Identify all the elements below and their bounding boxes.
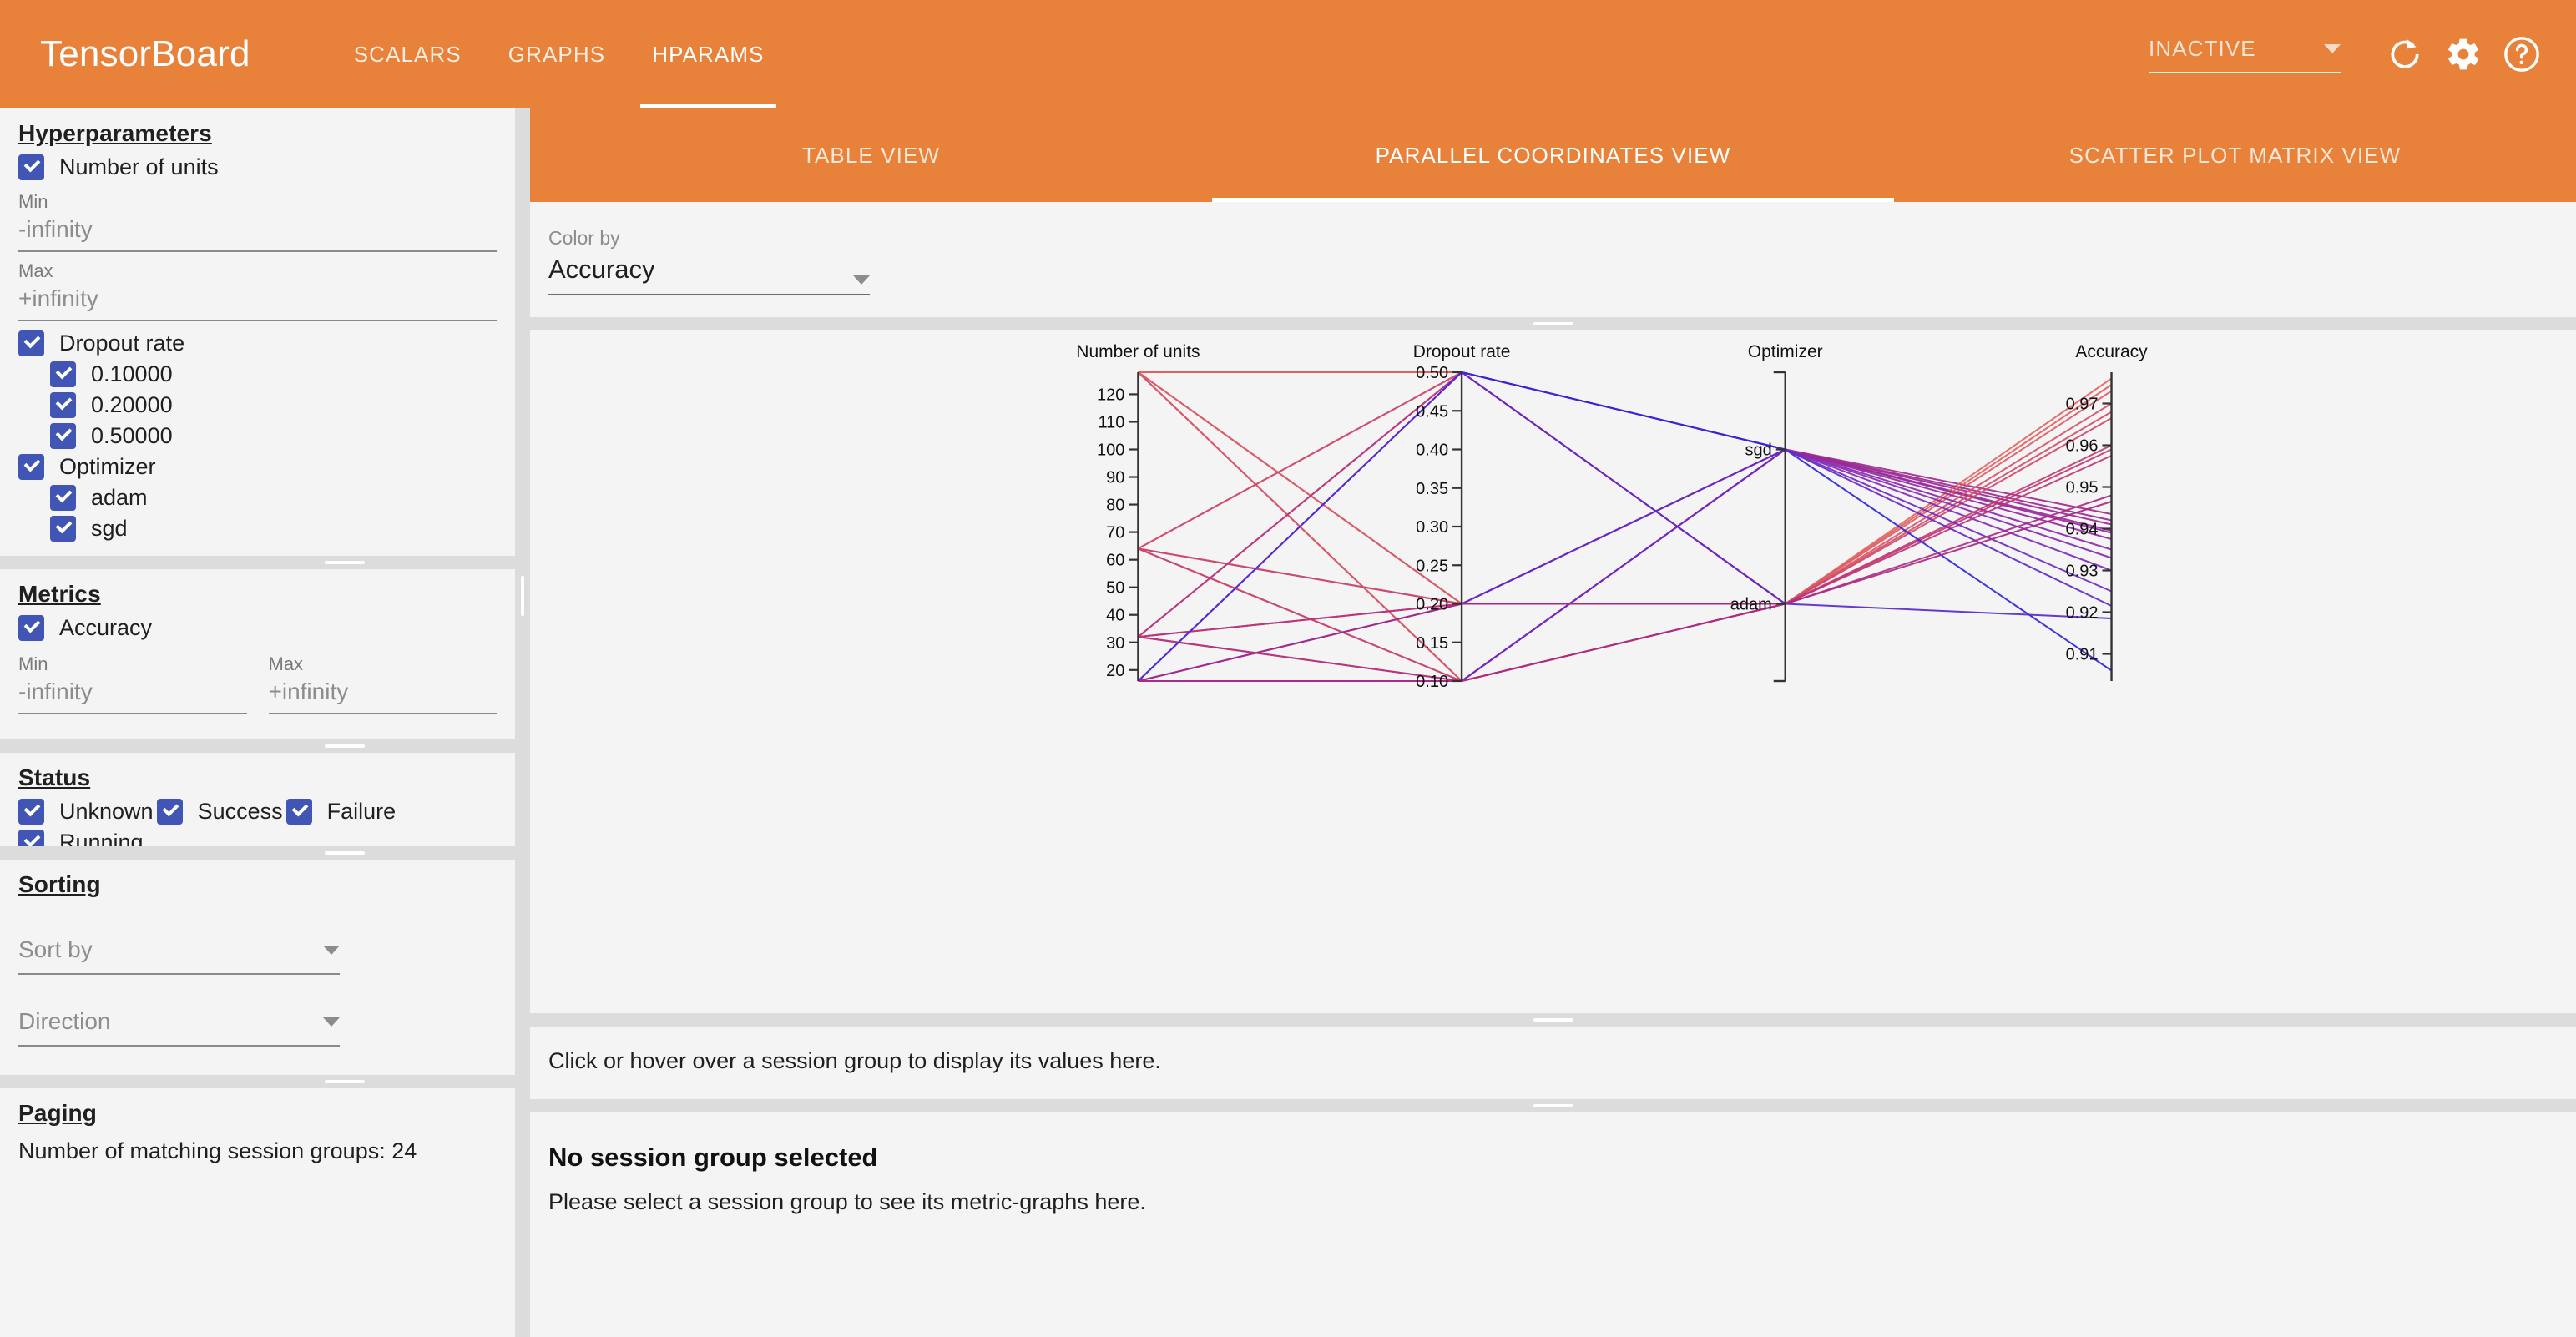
svg-text:0.10: 0.10 xyxy=(1416,673,1448,691)
checkbox-checked-icon[interactable] xyxy=(50,392,76,418)
status-checkbox-group: Unknown Success Failure Running xyxy=(18,796,497,846)
svg-text:0.50: 0.50 xyxy=(1416,364,1448,382)
checkbox-label: Failure xyxy=(327,799,397,825)
checkbox-optimizer-sgd[interactable]: sgd xyxy=(18,513,497,544)
svg-text:90: 90 xyxy=(1106,469,1124,487)
checkbox-label: 0.10000 xyxy=(91,361,173,387)
checkbox-dropout-0.10000[interactable]: 0.10000 xyxy=(18,359,497,390)
tab-label: TABLE VIEW xyxy=(802,143,940,169)
color-by-control[interactable]: Accuracy xyxy=(548,255,870,295)
checkbox-dropout-0.20000[interactable]: 0.20000 xyxy=(18,390,497,421)
accuracy-min-input[interactable]: -infinity xyxy=(18,679,247,714)
nav-item-label: SCALARS xyxy=(354,42,462,68)
svg-text:0.91: 0.91 xyxy=(2066,646,2099,664)
svg-text:60: 60 xyxy=(1106,552,1124,570)
resize-grip[interactable] xyxy=(1533,322,1573,325)
checkbox-label: 0.20000 xyxy=(91,392,173,418)
svg-text:80: 80 xyxy=(1106,497,1124,515)
svg-text:40: 40 xyxy=(1106,607,1124,625)
checkbox-checked-icon[interactable] xyxy=(50,516,76,542)
paging-title: Paging xyxy=(18,1088,497,1132)
direction-select[interactable]: Direction xyxy=(18,1008,340,1047)
hover-values-panel: Click or hover over a session group to d… xyxy=(530,1027,2576,1099)
checkbox-checked-icon[interactable] xyxy=(50,423,76,449)
checkbox-label: Success xyxy=(198,799,283,825)
metrics-range-fields: Min -infinity Max +infinity xyxy=(18,643,497,721)
checkbox-checked-icon[interactable] xyxy=(18,154,44,180)
direction-value: Direction xyxy=(18,1008,110,1035)
checkbox-checked-icon[interactable] xyxy=(18,454,44,480)
svg-text:0.15: 0.15 xyxy=(1416,634,1448,653)
checkbox-checked-icon[interactable] xyxy=(18,330,44,356)
hyperparameters-title: Hyperparameters xyxy=(18,108,497,152)
checkbox-status-failure[interactable]: Failure xyxy=(286,796,397,827)
accuracy-max-label: Max xyxy=(269,653,498,675)
checkbox-checked-icon[interactable] xyxy=(18,799,44,825)
svg-text:0.96: 0.96 xyxy=(2066,437,2099,456)
accuracy-max-input[interactable]: +infinity xyxy=(269,679,498,714)
tab-label: SCATTER PLOT MATRIX VIEW xyxy=(2069,143,2402,169)
metrics-title: Metrics xyxy=(18,569,497,613)
accuracy-min-label: Min xyxy=(18,653,247,675)
svg-text:0.35: 0.35 xyxy=(1416,480,1448,498)
parallel-coordinates-chart[interactable]: Number of units2030405060708090100110120… xyxy=(530,330,2576,1013)
checkbox-checked-icon[interactable] xyxy=(50,485,76,511)
checkbox-status-unknown[interactable]: Unknown xyxy=(18,796,154,827)
nav-item-scalars[interactable]: SCALARS xyxy=(331,0,485,108)
svg-text:adam: adam xyxy=(1730,596,1772,614)
accuracy-min-field[interactable]: Min -infinity xyxy=(18,653,247,714)
color-by-select[interactable]: Color by Accuracy xyxy=(548,227,870,295)
checkbox-label: Unknown xyxy=(59,799,154,825)
svg-text:0.97: 0.97 xyxy=(2066,396,2099,414)
svg-text:Accuracy: Accuracy xyxy=(2075,342,2148,361)
svg-text:0.30: 0.30 xyxy=(1416,518,1448,537)
matching-session-groups-count: Number of matching session groups: 24 xyxy=(18,1132,497,1164)
chevron-down-icon xyxy=(2324,44,2341,53)
checkbox-optimizer-adam[interactable]: adam xyxy=(18,482,497,513)
status-panel: Status Unknown Success Failure Running xyxy=(0,753,515,846)
svg-text:0.25: 0.25 xyxy=(1416,557,1448,575)
hyperparameters-panel: Hyperparameters Number of units Min -inf… xyxy=(0,108,515,556)
panel-divider-chart-bottom[interactable] xyxy=(530,1013,2576,1027)
checkbox-label: Dropout rate xyxy=(59,330,184,356)
resize-grip[interactable] xyxy=(1533,1018,1573,1022)
refresh-icon xyxy=(2387,36,2423,73)
svg-text:30: 30 xyxy=(1106,634,1124,653)
svg-text:20: 20 xyxy=(1106,662,1124,680)
accuracy-max-field[interactable]: Max +infinity xyxy=(269,653,498,714)
units-min-input[interactable]: -infinity xyxy=(18,216,497,252)
tab-label: PARALLEL COORDINATES VIEW xyxy=(1376,143,1731,169)
svg-text:0.92: 0.92 xyxy=(2066,604,2099,623)
metrics-panel: Metrics Accuracy Min -infinity Max +infi… xyxy=(0,569,515,739)
nav-item-label: GRAPHS xyxy=(508,42,605,68)
nav-item-hparams[interactable]: HPARAMS xyxy=(629,0,787,108)
panel-divider-metrics[interactable] xyxy=(0,739,515,753)
resize-grip[interactable] xyxy=(325,744,365,748)
runs-status-select[interactable]: INACTIVE xyxy=(2149,36,2341,73)
nav-item-label: HPARAMS xyxy=(652,42,764,68)
svg-text:Optimizer: Optimizer xyxy=(1748,342,1823,361)
color-by-label: Color by xyxy=(548,227,870,250)
resize-grip[interactable] xyxy=(325,851,365,855)
svg-text:0.94: 0.94 xyxy=(2066,521,2099,539)
checkbox-status-success[interactable]: Success xyxy=(157,796,283,827)
svg-text:Dropout rate: Dropout rate xyxy=(1413,342,1511,361)
panel-divider-sorting[interactable] xyxy=(0,1075,515,1088)
chevron-down-icon xyxy=(853,275,870,285)
checkbox-label: Accuracy xyxy=(59,615,152,641)
checkbox-status-running[interactable]: Running xyxy=(18,827,144,846)
gear-icon xyxy=(2445,36,2482,73)
session-group-body: Please select a session group to see its… xyxy=(548,1189,2558,1215)
top-nav: SCALARS GRAPHS HPARAMS xyxy=(331,0,788,108)
main-content: TABLE VIEW PARALLEL COORDINATES VIEW SCA… xyxy=(530,108,2576,1337)
sidebar: Hyperparameters Number of units Min -inf… xyxy=(0,108,515,1337)
svg-text:50: 50 xyxy=(1106,579,1124,598)
checkbox-checked-icon[interactable] xyxy=(157,799,183,825)
checkbox-checked-icon[interactable] xyxy=(286,799,312,825)
checkbox-number-of-units[interactable]: Number of units xyxy=(18,152,497,183)
nav-item-graphs[interactable]: GRAPHS xyxy=(485,0,629,108)
session-group-heading: No session group selected xyxy=(548,1143,2558,1173)
app-bar: TensorBoard SCALARS GRAPHS HPARAMS INACT… xyxy=(0,0,2576,108)
svg-text:Number of units: Number of units xyxy=(1076,342,1200,361)
svg-text:110: 110 xyxy=(1099,413,1125,431)
app-bar-actions: INACTIVE xyxy=(2149,0,2548,108)
refresh-button[interactable] xyxy=(2379,28,2431,80)
panel-divider-chart-top[interactable] xyxy=(530,317,2576,330)
resize-grip[interactable] xyxy=(521,576,524,616)
paging-panel: Paging Number of matching session groups… xyxy=(0,1088,515,1164)
help-button[interactable] xyxy=(2496,28,2548,80)
status-title: Status xyxy=(18,753,497,796)
checkbox-accuracy[interactable]: Accuracy xyxy=(18,613,497,643)
svg-text:sgd: sgd xyxy=(1745,441,1771,460)
svg-text:70: 70 xyxy=(1106,524,1124,542)
checkbox-label: Number of units xyxy=(59,154,219,180)
units-min-label: Min xyxy=(18,191,497,213)
app-title: TensorBoard xyxy=(40,33,250,75)
sort-by-value: Sort by xyxy=(18,936,93,963)
checkbox-label: Running xyxy=(59,830,144,846)
color-by-value: Accuracy xyxy=(548,255,654,285)
help-circle-icon xyxy=(2503,35,2541,73)
resize-grip[interactable] xyxy=(325,1080,365,1083)
checkbox-checked-icon[interactable] xyxy=(50,361,76,387)
checkbox-checked-icon[interactable] xyxy=(18,830,44,846)
view-tabs: TABLE VIEW PARALLEL COORDINATES VIEW SCA… xyxy=(530,108,2576,202)
tab-parallel-coordinates-view[interactable]: PARALLEL COORDINATES VIEW xyxy=(1212,108,1894,202)
sorting-panel: Sorting Sort by Direction xyxy=(0,860,515,1075)
units-max-field[interactable]: Max +infinity xyxy=(18,252,497,321)
svg-text:0.95: 0.95 xyxy=(2066,479,2099,497)
panel-divider-hyperparameters[interactable] xyxy=(0,556,515,569)
checkbox-checked-icon[interactable] xyxy=(18,615,44,641)
units-max-input[interactable]: +infinity xyxy=(18,285,497,321)
hover-hint-text: Click or hover over a session group to d… xyxy=(548,1048,2558,1074)
panel-divider-status[interactable] xyxy=(0,846,515,860)
sidebar-resizer[interactable] xyxy=(515,108,530,1337)
units-min-field[interactable]: Min -infinity xyxy=(18,183,497,252)
panel-divider-session[interactable] xyxy=(530,1099,2576,1112)
svg-text:0.20: 0.20 xyxy=(1416,596,1448,614)
sort-by-select[interactable]: Sort by xyxy=(18,936,340,975)
settings-button[interactable] xyxy=(2437,28,2489,80)
units-max-label: Max xyxy=(18,260,497,282)
session-group-panel: No session group selected Please select … xyxy=(530,1112,2576,1215)
checkbox-label: Optimizer xyxy=(59,454,156,480)
color-by-section: Color by Accuracy xyxy=(530,202,2576,317)
sorting-title: Sorting xyxy=(18,860,497,903)
svg-text:0.45: 0.45 xyxy=(1416,402,1448,421)
runs-status-value: INACTIVE xyxy=(2149,36,2256,62)
tab-table-view[interactable]: TABLE VIEW xyxy=(530,108,1212,202)
svg-text:100: 100 xyxy=(1097,441,1124,460)
tab-scatter-plot-matrix-view[interactable]: SCATTER PLOT MATRIX VIEW xyxy=(1894,108,2576,202)
svg-text:120: 120 xyxy=(1097,386,1124,404)
parallel-coordinates-svg[interactable]: Number of units2030405060708090100110120… xyxy=(530,330,2576,1013)
checkbox-label: 0.50000 xyxy=(91,423,173,449)
chevron-down-icon xyxy=(323,946,340,955)
svg-text:0.93: 0.93 xyxy=(2066,563,2099,581)
resize-grip[interactable] xyxy=(1533,1104,1573,1107)
checkbox-optimizer[interactable]: Optimizer xyxy=(18,452,497,482)
checkbox-label: adam xyxy=(91,485,148,511)
checkbox-dropout-0.50000[interactable]: 0.50000 xyxy=(18,421,497,452)
chevron-down-icon xyxy=(323,1017,340,1027)
svg-text:0.40: 0.40 xyxy=(1416,441,1448,460)
checkbox-dropout-rate[interactable]: Dropout rate xyxy=(18,328,497,359)
resize-grip[interactable] xyxy=(325,561,365,564)
checkbox-label: sgd xyxy=(91,516,128,542)
